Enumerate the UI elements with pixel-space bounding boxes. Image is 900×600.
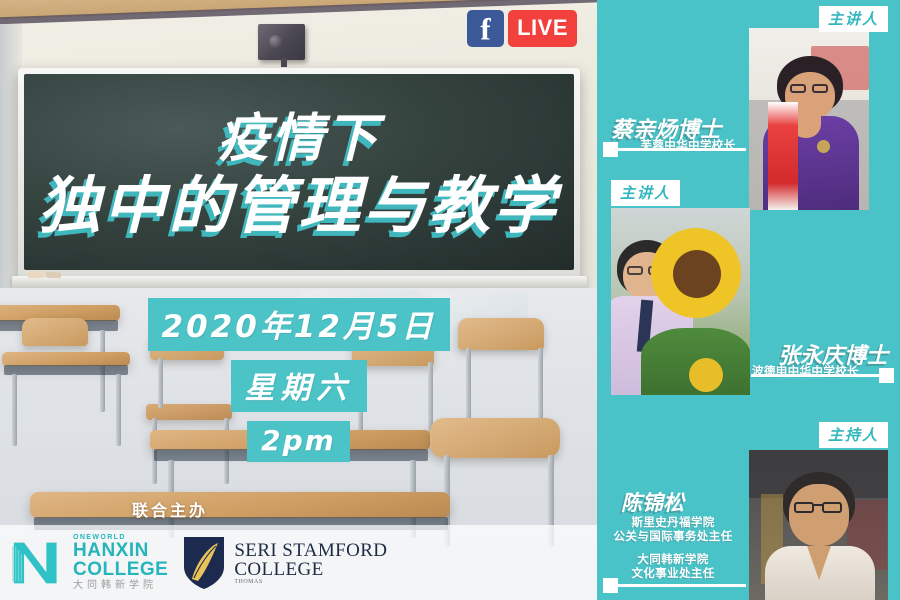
wall-speaker-mount — [281, 58, 287, 67]
event-date: 2020年12月5日 — [148, 298, 450, 351]
co-organiser-logos: ONEWORLD HANXIN COLLEGE 大同韩新学院 SERI STAM… — [0, 525, 420, 600]
moderator-title-line-3: 大同韩新学院 — [597, 552, 749, 566]
moderator-title-line-4: 文化事业处主任 — [597, 566, 749, 580]
accent-square — [603, 578, 618, 593]
seri-stamford-college-logo: SERI STAMFORD COLLEGE THOMAS — [182, 535, 387, 591]
accent-square — [603, 142, 618, 157]
stamford-name-line2: COLLEGE — [234, 560, 387, 579]
poster-title: 疫情下 独中的管理与教学 — [0, 108, 597, 242]
accent-rule — [618, 584, 746, 587]
title-line-2: 独中的管理与教学 — [0, 170, 597, 242]
classroom-background-panel: f LIVE 疫情下 独中的管理与教学 2020年12月5日 星期六 2pm 联… — [0, 0, 597, 600]
event-time: 2pm — [247, 421, 350, 462]
chalk-piece — [46, 272, 61, 279]
role-badge-speaker-1: 主讲人 — [819, 6, 888, 32]
facebook-live-badge[interactable]: f LIVE — [467, 10, 577, 47]
speaker-1-photo — [749, 28, 869, 210]
hanxin-chinese-name: 大同韩新学院 — [73, 581, 168, 591]
stamford-name-line1: SERI STAMFORD — [234, 541, 387, 560]
hanxin-wordmark: ONEWORLD HANXIN COLLEGE 大同韩新学院 — [73, 534, 168, 591]
hanxin-name-line2: COLLEGE — [73, 560, 168, 579]
title-line-1: 疫情下 — [0, 108, 597, 170]
wall-speaker-icon — [258, 24, 305, 60]
co-organiser-label: 联合主办 — [0, 497, 340, 521]
moderator-name: 陈锦松 — [621, 487, 684, 517]
accent-square — [879, 368, 894, 383]
shield-icon — [182, 535, 226, 591]
moderator-title-line-1: 斯里史丹福学院 — [597, 515, 749, 529]
role-badge-speaker-2: 主讲人 — [611, 180, 680, 206]
event-schedule: 2020年12月5日 星期六 2pm — [0, 298, 597, 462]
live-label: LIVE — [508, 10, 577, 47]
accent-rule — [751, 374, 879, 377]
facebook-f-glyph: f — [467, 13, 504, 44]
facebook-icon[interactable]: f — [467, 10, 504, 47]
role-badge-moderator: 主持人 — [819, 422, 888, 448]
event-weekday: 星期六 — [231, 360, 367, 412]
hanxin-college-logo: ONEWORLD HANXIN COLLEGE 大同韩新学院 — [10, 534, 168, 591]
moderator-photo — [749, 450, 888, 600]
hanxin-mark-icon — [10, 537, 66, 589]
stamford-wordmark: SERI STAMFORD COLLEGE THOMAS — [234, 541, 387, 585]
accent-rule — [618, 148, 746, 151]
webinar-poster: f LIVE 疫情下 独中的管理与教学 2020年12月5日 星期六 2pm 联… — [0, 0, 900, 600]
hanxin-name-line1: HANXIN — [73, 541, 168, 560]
speakers-panel: 主讲人 蔡亲炀博士 芙蓉中华中学校长 主讲人 — [597, 0, 900, 600]
moderator-title-line-2: 公关与国际事务处主任 — [597, 529, 749, 543]
chalk-piece — [28, 271, 45, 279]
